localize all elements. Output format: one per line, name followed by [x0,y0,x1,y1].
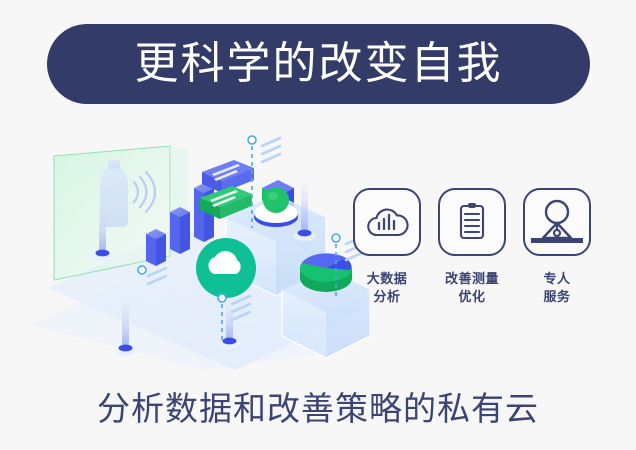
footer-tagline: 分析数据和改善策略的私有云 [0,382,636,430]
feature-label-line2: 分析 [367,288,408,306]
feature-tile-big-data [353,188,421,256]
feature-label-measurement: 改善测量 优化 [445,270,499,306]
clipboard-icon [450,200,494,244]
service-person-icon [527,192,587,252]
poster-canvas: 更科学的改变自我 [0,0,636,450]
cloud-bar-chart-icon [365,202,409,242]
pie-chart-3d [300,253,352,292]
dash-strokes-top [262,138,280,162]
feature-label-service: 专人 服务 [543,270,570,306]
feature-list: 大数据 分析 改善测量 优化 [352,188,592,306]
header-banner-pill: 更科学的改变自我 [47,24,590,104]
feature-label-line2: 优化 [445,288,499,306]
feature-label-line2: 服务 [543,288,570,306]
hero-illustration [30,120,370,370]
feature-label-big-data: 大数据 分析 [367,270,408,306]
bar-2 [170,207,190,254]
teal-cloud-badge [196,238,256,298]
feature-item-measurement[interactable]: 改善测量 优化 [437,188,507,306]
feature-item-service[interactable]: 专人 服务 [522,188,592,306]
feature-label-line1: 改善测量 [445,271,499,286]
feature-label-line1: 专人 [543,271,570,286]
bar-1 [146,229,166,266]
small-dot-marker [138,266,146,274]
feature-item-big-data[interactable]: 大数据 分析 [352,188,422,306]
feature-tile-measurement [438,188,506,256]
page-title: 更科学的改变自我 [135,42,503,86]
feature-label-line1: 大数据 [367,271,408,286]
feature-tile-service [523,188,591,256]
